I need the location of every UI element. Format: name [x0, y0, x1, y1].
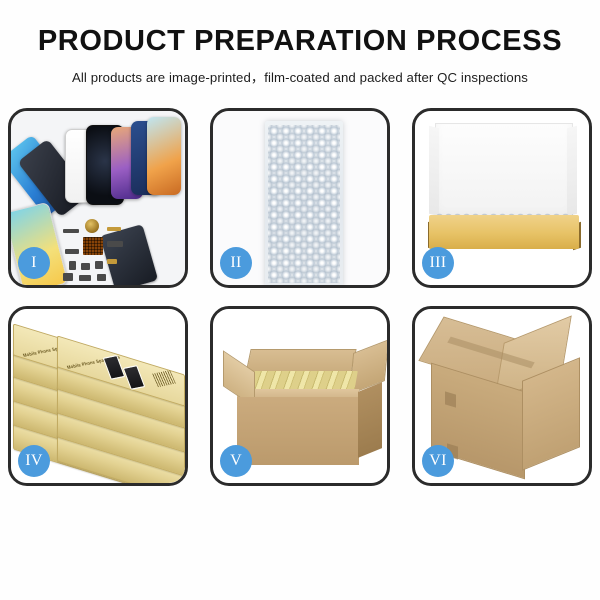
step-panel-1: I	[8, 108, 188, 288]
gold-connector-part	[107, 227, 121, 231]
ic-chip-part	[83, 237, 103, 255]
screw-part	[97, 274, 106, 281]
step-panel-4: Mobile Phone Spare Parts Mobile Phone Sp…	[8, 306, 188, 486]
step-badge-4: IV	[18, 445, 50, 477]
inner-box-lid-left-flap	[429, 126, 439, 216]
phone-display-orange	[147, 117, 181, 195]
step-5-image: V	[213, 309, 387, 483]
bubble-wrap-pouch	[265, 121, 343, 285]
step-badge-3: III	[422, 247, 454, 279]
step-badge-6: VI	[422, 445, 454, 477]
vibrator-part	[81, 263, 90, 270]
inner-box-lid	[435, 123, 573, 221]
small-cable-part	[65, 249, 79, 254]
box-product-photo-right-a	[103, 355, 125, 380]
step-1-image: I	[11, 111, 185, 285]
process-steps-grid: I II III	[8, 108, 592, 486]
flex-cable-part	[63, 229, 79, 233]
step-panel-3: III	[412, 108, 592, 288]
step-2-image: II	[213, 111, 387, 285]
box-product-photo-right-b	[123, 365, 145, 390]
step-3-image: III	[415, 111, 589, 285]
inner-box-tray	[429, 215, 579, 249]
step-panel-5: V	[210, 306, 390, 486]
bubble-wrap-texture	[268, 125, 340, 283]
step-badge-2: II	[220, 247, 252, 279]
camera-module-part	[107, 241, 123, 247]
step-4-image: Mobile Phone Spare Parts Mobile Phone Sp…	[11, 309, 185, 483]
gold-contact-part	[107, 259, 117, 264]
header: PRODUCT PREPARATION PROCESS All products…	[0, 0, 600, 86]
sim-tray-part	[69, 261, 76, 270]
page-subtitle: All products are image-printed，film-coat…	[0, 67, 600, 86]
button-part	[95, 261, 103, 269]
antenna-part	[79, 275, 91, 281]
box-barcode-right	[152, 370, 176, 387]
inner-box-lid-right-flap	[567, 126, 577, 216]
speaker-mesh-part	[63, 273, 73, 281]
speaker-module-icon	[85, 219, 99, 233]
step-badge-1: I	[18, 247, 50, 279]
step-panel-2: II	[210, 108, 390, 288]
step-6-image: VI	[415, 309, 589, 483]
step-badge-5: V	[220, 445, 252, 477]
page-title: PRODUCT PREPARATION PROCESS	[0, 26, 600, 58]
spare-parts-cluster	[63, 219, 141, 285]
step-panel-6: VI	[412, 306, 592, 486]
product-preparation-infographic: PRODUCT PREPARATION PROCESS All products…	[0, 0, 600, 600]
carton-side-face	[358, 382, 382, 458]
carton-front-face	[237, 397, 359, 465]
